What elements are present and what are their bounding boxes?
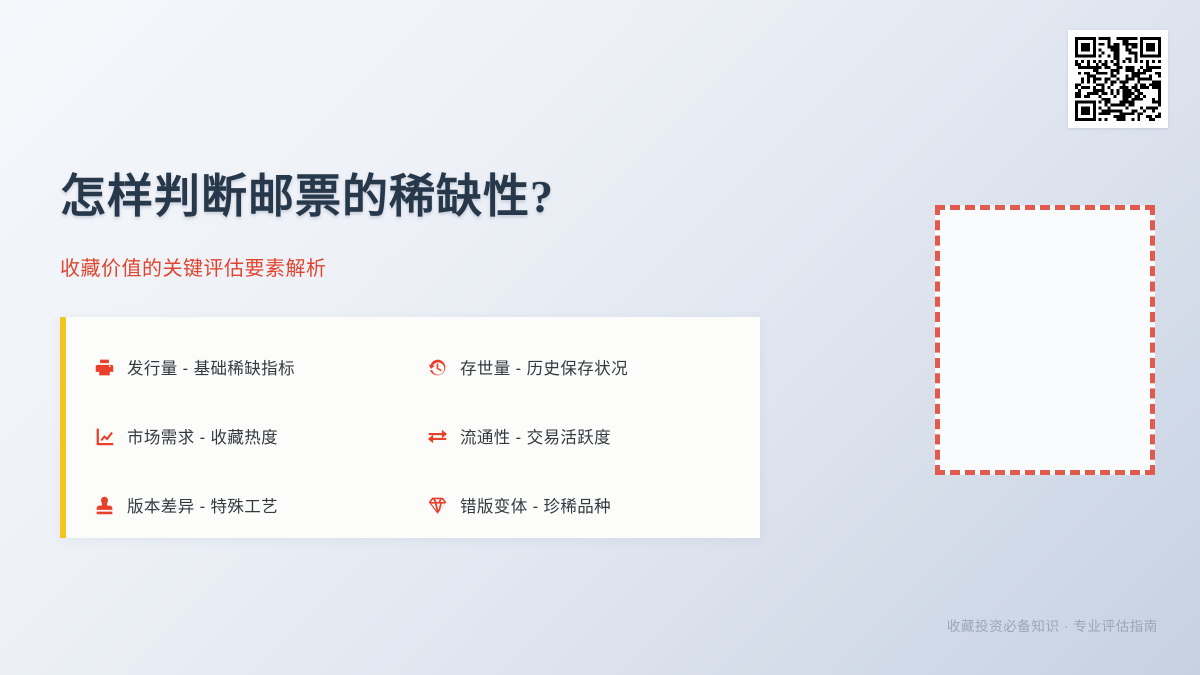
feature-label: 存世量 - 历史保存状况: [460, 355, 628, 379]
feature-label: 市场需求 - 收藏热度: [127, 424, 278, 448]
feature-label: 错版变体 - 珍稀品种: [460, 493, 611, 517]
stamp-icon: [94, 495, 115, 516]
page-subtitle: 收藏价值的关键评估要素解析: [60, 252, 327, 281]
page-title: 怎样判断邮票的稀缺性?: [60, 160, 554, 226]
feature-item-liquidity[interactable]: 流通性 - 交易活跃度: [427, 420, 760, 452]
feature-item-market-demand[interactable]: 市场需求 - 收藏热度: [94, 420, 427, 452]
chart-line-icon: [94, 426, 115, 447]
feature-item-surviving-quantity[interactable]: 存世量 - 历史保存状况: [427, 351, 760, 383]
feature-label: 版本差异 - 特殊工艺: [127, 493, 278, 517]
exchange-arrows-icon: [427, 426, 448, 447]
printer-icon: [94, 357, 115, 378]
qr-code[interactable]: [1068, 30, 1168, 128]
feature-item-issue-volume[interactable]: 发行量 - 基础稀缺指标: [94, 351, 427, 383]
footer-note: 收藏投资必备知识 · 专业评估指南: [947, 615, 1158, 635]
history-icon: [427, 357, 448, 378]
feature-item-error-variety[interactable]: 错版变体 - 珍稀品种: [427, 489, 760, 521]
feature-list: 发行量 - 基础稀缺指标 存世量 - 历史保存状况 市场需求 - 收藏热度 流通…: [66, 317, 760, 538]
qr-code-image: [1075, 37, 1161, 121]
feature-label: 流通性 - 交易活跃度: [460, 424, 611, 448]
feature-card: 发行量 - 基础稀缺指标 存世量 - 历史保存状况 市场需求 - 收藏热度 流通…: [60, 317, 760, 538]
feature-item-version-variance[interactable]: 版本差异 - 特殊工艺: [94, 489, 427, 521]
feature-label: 发行量 - 基础稀缺指标: [127, 355, 295, 379]
gem-icon: [427, 495, 448, 516]
image-placeholder[interactable]: [935, 205, 1155, 475]
